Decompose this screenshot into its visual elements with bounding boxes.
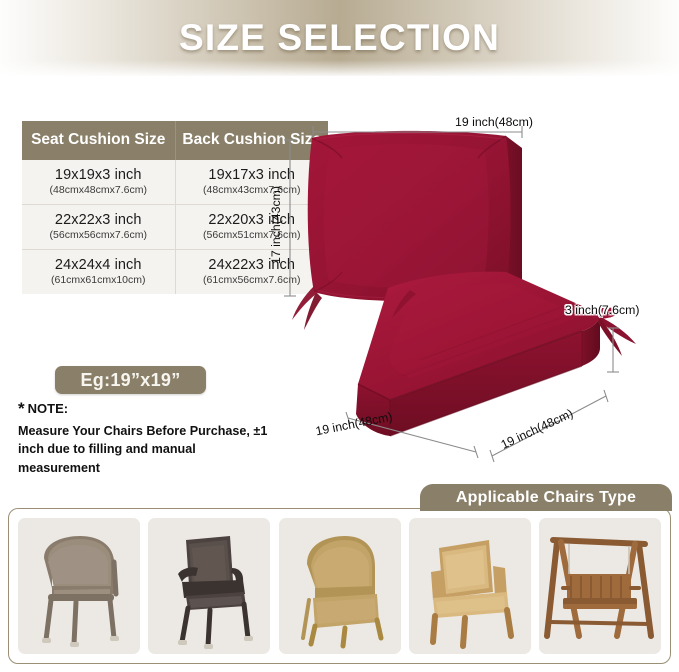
seat-size-cm-2: (56cmx56cmx7.6cm) (26, 229, 171, 241)
note-block: *NOTE: Measure Your Chairs Before Purcha… (18, 400, 280, 477)
seat-size-cm-3: (61cmx61cmx10cm) (26, 274, 171, 286)
note-body-text: Measure Your Chairs Before Purchase, ±1 … (18, 422, 280, 477)
header-banner: SIZE SELECTION (0, 0, 679, 76)
round-back-wicker-chair-icon (18, 518, 140, 654)
page-title: SIZE SELECTION (179, 17, 500, 59)
cushion-diagram: 19 inch(48cm) 17 inch(43cm) 3 inch(7.6cm… (270, 100, 679, 475)
chair-card-wooden-porch-swing[interactable] (539, 518, 661, 654)
chair-card-round-back-wicker-chair[interactable] (18, 518, 140, 654)
cell-seat-size-3: 24x24x4 inch (61cmx61cmx10cm) (22, 249, 175, 294)
dimension-back-width: 19 inch(48cm) (455, 115, 533, 129)
chair-card-natural-rattan-armchair[interactable] (409, 518, 531, 654)
seat-size-inch-3: 24x24x4 inch (26, 257, 171, 273)
asterisk-icon: * (18, 399, 25, 418)
note-heading: *NOTE: (18, 400, 280, 417)
dimension-back-height: 17 inch(43cm) (269, 186, 283, 264)
cushion-illustration (270, 100, 679, 475)
natural-rattan-armchair-icon (409, 518, 531, 654)
dark-wicker-armchair-icon (148, 518, 270, 654)
chair-card-barrel-back-rattan-chair[interactable] (279, 518, 401, 654)
barrel-back-rattan-chair-icon (279, 518, 401, 654)
seat-size-inch-1: 19x19x3 inch (26, 167, 171, 183)
note-heading-text: NOTE: (28, 401, 68, 416)
wooden-porch-swing-icon (539, 518, 661, 654)
seat-size-cm-1: (48cmx48cmx7.6cm) (26, 184, 171, 196)
cell-seat-size-2: 22x22x3 inch (56cmx56cmx7.6cm) (22, 204, 175, 249)
applicable-chairs-tab: Applicable Chairs Type (420, 484, 672, 511)
column-header-seat-cushion: Seat Cushion Size (22, 121, 175, 160)
applicable-chairs-panel (8, 508, 671, 664)
example-size-badge: Eg:19”x19” (55, 366, 206, 394)
dimension-seat-thickness: 3 inch(7.6cm) (565, 303, 640, 317)
chair-card-dark-wicker-armchair[interactable] (148, 518, 270, 654)
seat-size-inch-2: 22x22x3 inch (26, 212, 171, 228)
cell-seat-size-1: 19x19x3 inch (48cmx48cmx7.6cm) (22, 160, 175, 205)
